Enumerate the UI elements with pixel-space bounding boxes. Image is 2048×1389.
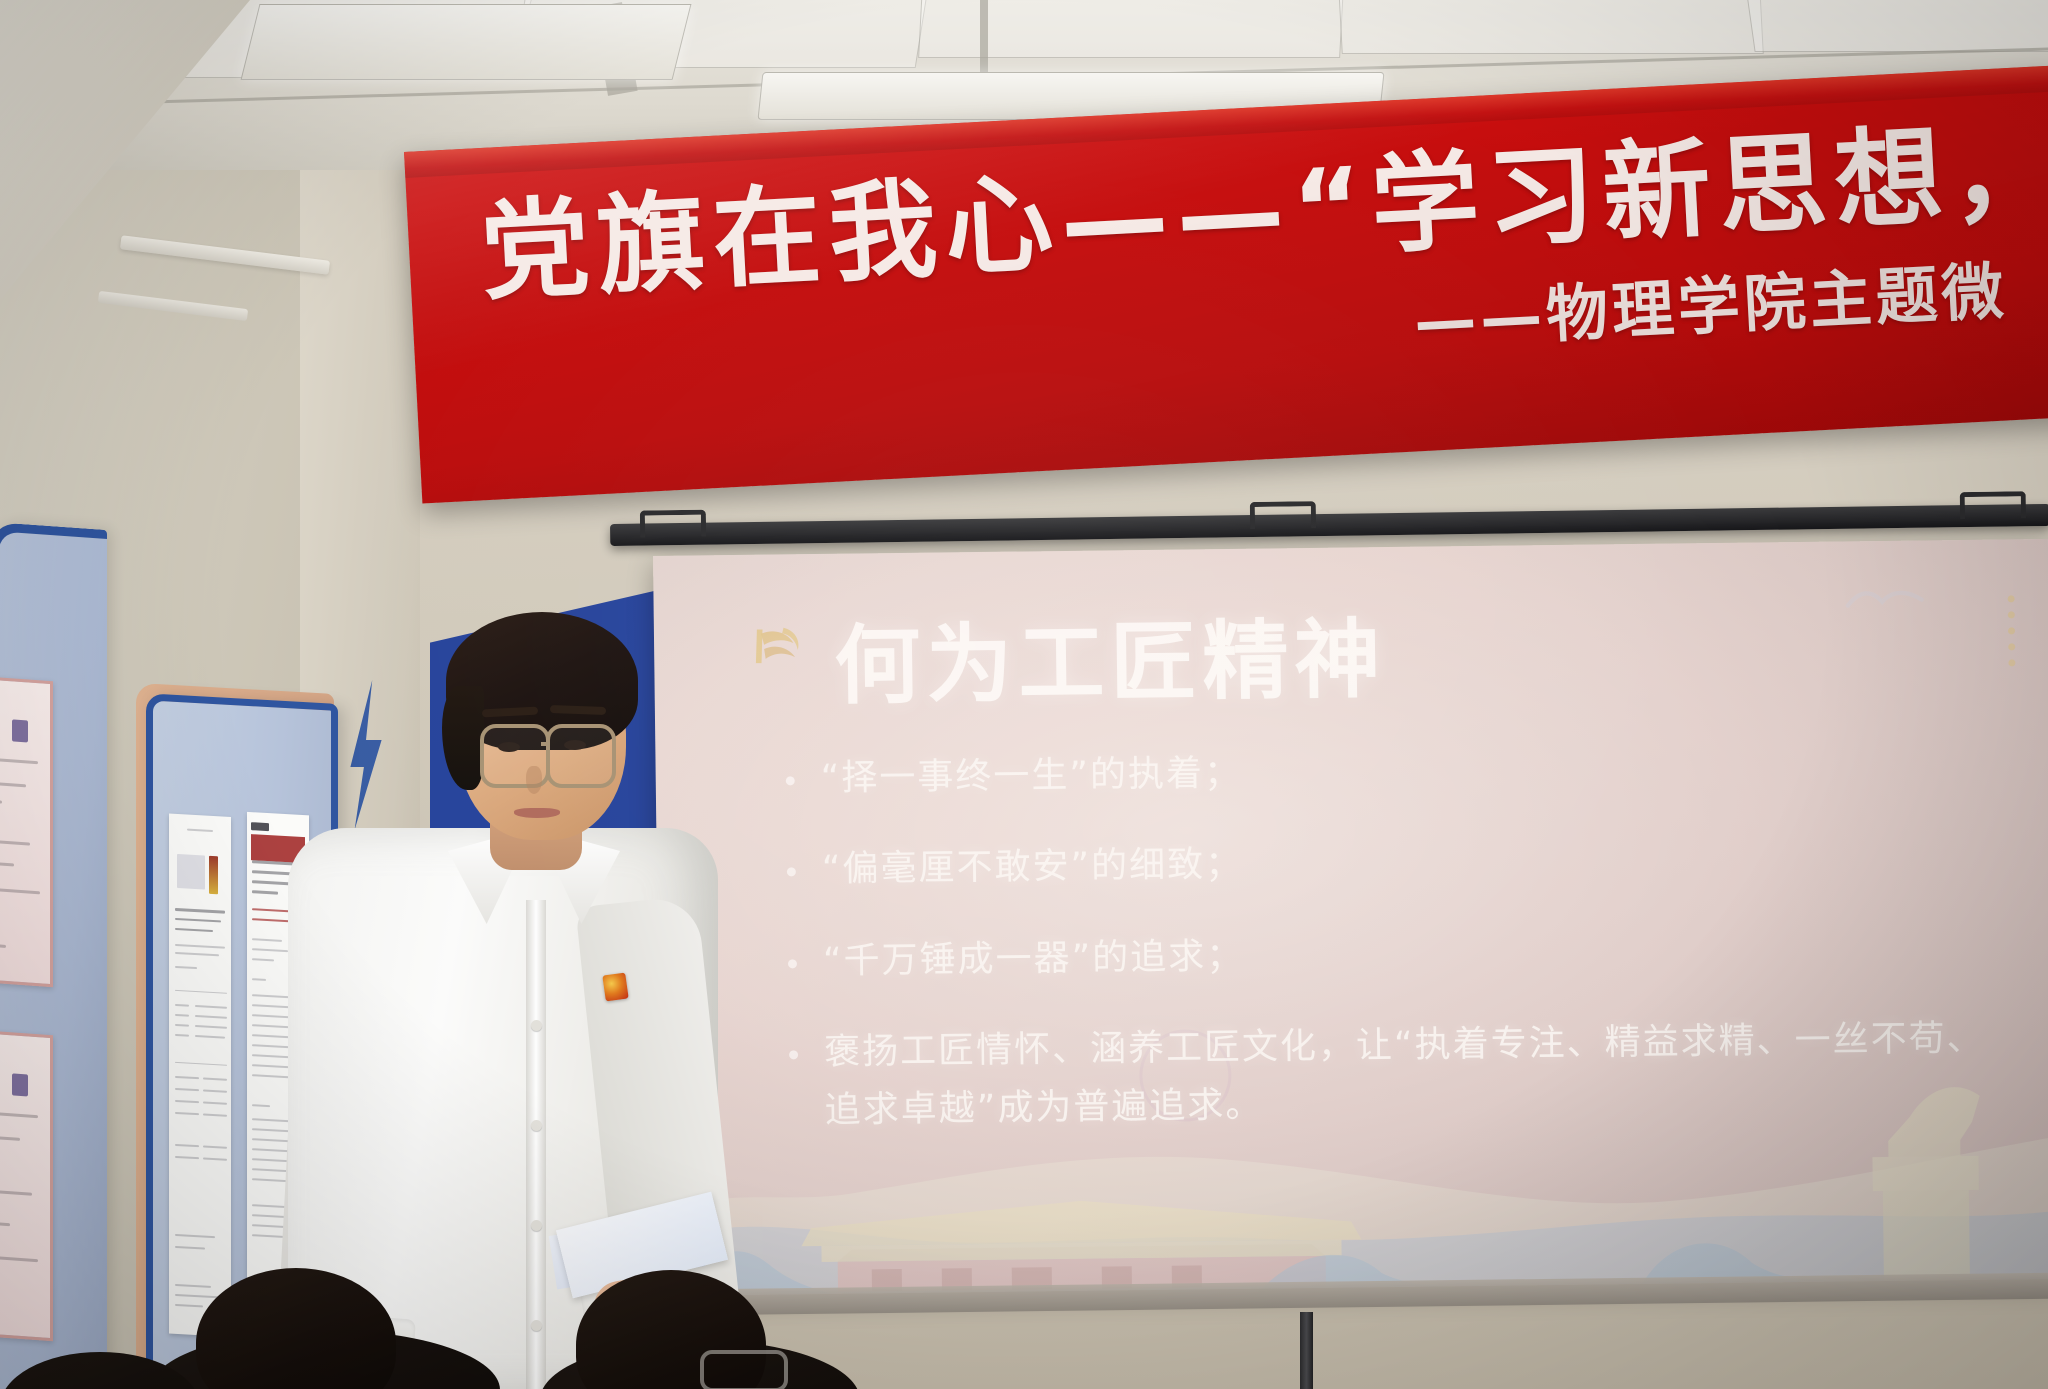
ceiling-tile	[1745, 0, 2048, 52]
shirt-button	[531, 1020, 542, 1031]
shirt-button	[531, 1220, 542, 1231]
presenter-hair	[442, 686, 484, 790]
ceiling-tile	[1338, 0, 1764, 54]
party-emblem-pin	[602, 973, 628, 1002]
eyeglasses-bridge	[541, 742, 549, 746]
screen-bracket	[1960, 491, 2026, 519]
projector-screen: 何为工匠精神	[653, 539, 2048, 1296]
shirt-button	[531, 1320, 542, 1331]
student-presenter	[330, 600, 800, 1389]
lecture-hall-photo: 党旗在我心——“学习新思想，建功新 ——物理学院主题微 何为工匠精神	[0, 0, 2048, 1389]
presenter-nose	[526, 766, 542, 794]
certificate	[0, 673, 53, 987]
presenter-mouth	[514, 808, 560, 818]
certificate-display-board	[0, 522, 107, 1389]
certificate	[0, 1027, 53, 1341]
screen-bracket	[1250, 501, 1316, 529]
screen-glow	[653, 539, 2048, 1296]
audience-eyeglasses	[700, 1350, 788, 1389]
eyeglasses	[546, 724, 616, 788]
ceiling-rail	[980, 0, 988, 80]
shirt-placket	[526, 900, 546, 1389]
screen-bracket	[640, 510, 706, 538]
screen-support-pole	[1300, 1312, 1313, 1389]
ceiling-light-panel	[241, 4, 692, 80]
research-paper-printout	[169, 814, 231, 1337]
shirt-button	[531, 1120, 542, 1131]
